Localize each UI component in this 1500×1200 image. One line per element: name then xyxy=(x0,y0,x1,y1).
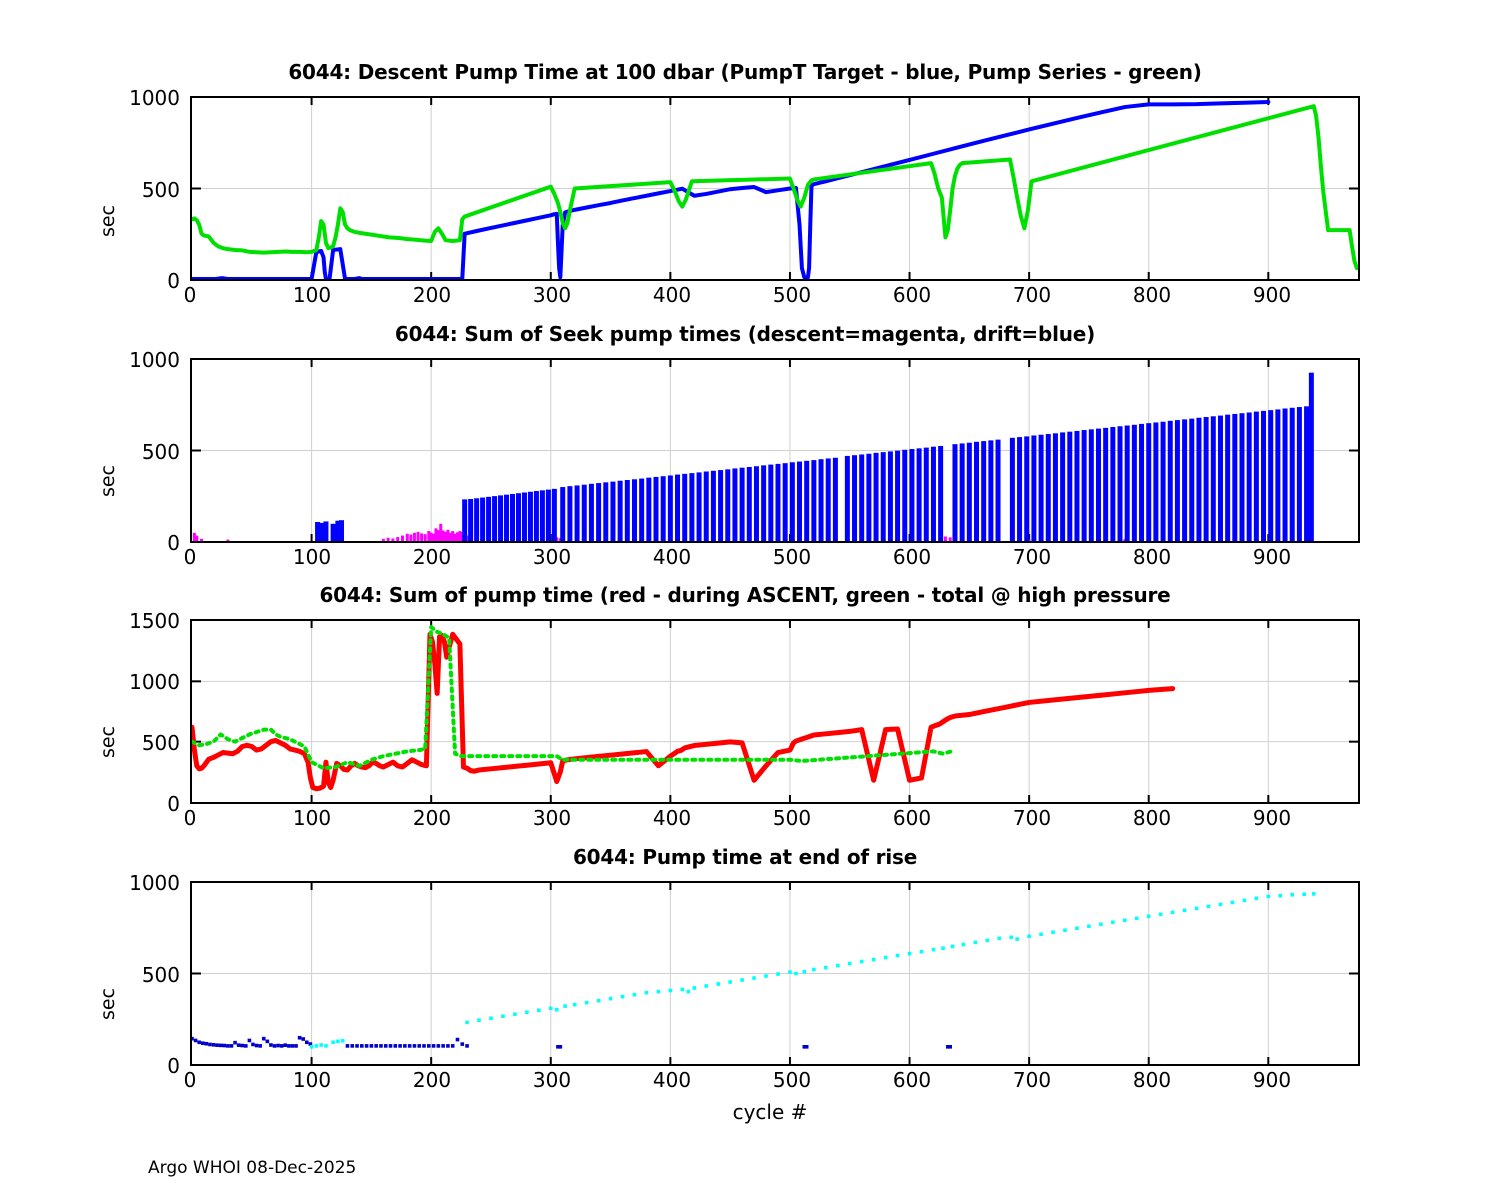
panel-3-ytick-0: 0 xyxy=(90,792,180,816)
panel-2-xtick: 0 xyxy=(170,545,210,569)
panel-3-xtick: 800 xyxy=(1122,806,1182,830)
panel-1-title: 6044: Descent Pump Time at 100 dbar (Pum… xyxy=(120,60,1370,84)
panel-3-xtick: 500 xyxy=(762,806,822,830)
figure-footer: Argo WHOI 08-Dec-2025 xyxy=(148,1158,356,1178)
panel-1-axes xyxy=(190,96,1360,281)
panel-3-xtick: 300 xyxy=(522,806,582,830)
panel-2-xtick: 200 xyxy=(402,545,462,569)
argo-float-pump-diagnostics-figure: 6044: Descent Pump Time at 100 dbar (Pum… xyxy=(0,0,1500,1200)
panel-2-ytick-1000: 1000 xyxy=(100,348,180,372)
panel-pump-time-end-of-rise: 6044: Pump time at end of rise sec 1000 … xyxy=(0,845,1500,1135)
panel-2-xtick: 500 xyxy=(762,545,822,569)
panel-4-xtick: 0 xyxy=(170,1068,210,1092)
panel-1-xtick: 600 xyxy=(882,283,942,307)
panel-1-xtick: 100 xyxy=(282,283,342,307)
panel-2-xtick: 100 xyxy=(282,545,342,569)
panel-3-xtick: 0 xyxy=(170,806,210,830)
panel-1-xtick: 0 xyxy=(170,283,210,307)
panel-2-xtick: 900 xyxy=(1242,545,1302,569)
panel-2-xtick: 600 xyxy=(882,545,942,569)
panel-3-xtick: 100 xyxy=(282,806,342,830)
panel-1-ytick-0: 0 xyxy=(100,269,180,293)
panel-1-xtick: 200 xyxy=(402,283,462,307)
panel-2-axes xyxy=(190,358,1360,543)
panel-sum-pump-time: 6044: Sum of pump time (red - during ASC… xyxy=(0,583,1500,833)
panel-4-ytick-1000: 1000 xyxy=(100,871,180,895)
panel-2-plot xyxy=(192,360,1358,541)
panel-3-xtick: 200 xyxy=(402,806,462,830)
panel-1-xtick: 500 xyxy=(762,283,822,307)
panel-4-xtick: 500 xyxy=(762,1068,822,1092)
panel-4-xtick: 800 xyxy=(1122,1068,1182,1092)
panel-4-plot xyxy=(192,883,1358,1064)
panel-1-ytick-1000: 1000 xyxy=(100,86,180,110)
panel-1-plot xyxy=(192,98,1358,279)
panel-4-title: 6044: Pump time at end of rise xyxy=(120,845,1370,869)
panel-4-ytick-500: 500 xyxy=(100,963,180,987)
panel-2-ytick-500: 500 xyxy=(100,440,180,464)
panel-1-xtick: 300 xyxy=(522,283,582,307)
panel-3-ytick-1500: 1500 xyxy=(90,609,180,633)
panel-2-xtick: 300 xyxy=(522,545,582,569)
panel-4-xtick: 400 xyxy=(642,1068,702,1092)
panel-1-ytick-500: 500 xyxy=(100,178,180,202)
panel-3-ytick-1000: 1000 xyxy=(90,670,180,694)
panel-seek-pump-times: 6044: Sum of Seek pump times (descent=ma… xyxy=(0,322,1500,572)
panel-3-ytick-500: 500 xyxy=(90,731,180,755)
panel-4-xtick: 900 xyxy=(1242,1068,1302,1092)
panel-2-xtick: 400 xyxy=(642,545,702,569)
panel-3-xtick: 600 xyxy=(882,806,942,830)
panel-2-xtick: 700 xyxy=(1002,545,1062,569)
panel-4-xtick: 200 xyxy=(402,1068,462,1092)
panel-4-ytick-0: 0 xyxy=(100,1054,180,1078)
panel-3-plot xyxy=(192,621,1358,802)
panel-3-axes xyxy=(190,619,1360,804)
panel-2-ytick-0: 0 xyxy=(100,531,180,555)
panel-4-xtick: 300 xyxy=(522,1068,582,1092)
panel-1-xtick: 700 xyxy=(1002,283,1062,307)
panel-4-xlabel: cycle # xyxy=(620,1100,920,1124)
panel-1-xtick: 400 xyxy=(642,283,702,307)
panel-1-xtick: 800 xyxy=(1122,283,1182,307)
panel-4-xtick: 700 xyxy=(1002,1068,1062,1092)
panel-2-xtick: 800 xyxy=(1122,545,1182,569)
panel-3-title: 6044: Sum of pump time (red - during ASC… xyxy=(120,583,1370,607)
panel-descent-pump-time: 6044: Descent Pump Time at 100 dbar (Pum… xyxy=(0,60,1500,310)
panel-3-xtick: 400 xyxy=(642,806,702,830)
panel-2-title: 6044: Sum of Seek pump times (descent=ma… xyxy=(120,322,1370,346)
panel-4-xtick: 100 xyxy=(282,1068,342,1092)
panel-4-axes xyxy=(190,881,1360,1066)
panel-3-xtick: 900 xyxy=(1242,806,1302,830)
panel-4-xtick: 600 xyxy=(882,1068,942,1092)
panel-3-xtick: 700 xyxy=(1002,806,1062,830)
panel-1-xtick: 900 xyxy=(1242,283,1302,307)
